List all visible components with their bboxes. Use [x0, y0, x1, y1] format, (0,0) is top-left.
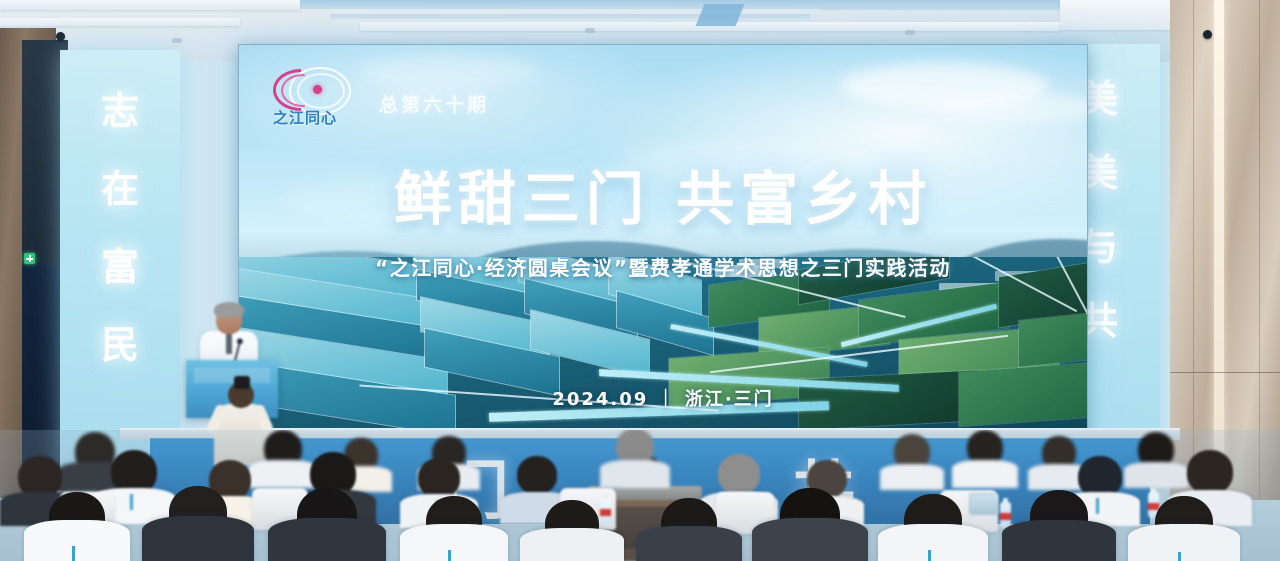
main-title: 鲜甜三门 共富乡村: [239, 169, 1087, 230]
logo-text: 之江同心: [273, 107, 337, 128]
audience-person: [142, 486, 254, 561]
exit-sign-icon: [24, 253, 35, 264]
audience-person: [636, 498, 742, 561]
left-banner-char: 富: [101, 248, 139, 286]
left-banner-char: 在: [101, 170, 139, 208]
audience-person: [752, 488, 868, 561]
ceiling-camera-icon: [1203, 30, 1212, 39]
audience-person: [600, 430, 670, 488]
audience-person: [952, 430, 1018, 488]
conference-hall-photo: 志 在 富 民 美 美 与 共: [0, 0, 1280, 561]
left-banner-char: 民: [101, 326, 139, 364]
right-wall: [1170, 0, 1280, 500]
left-banner-char: 志: [101, 92, 139, 130]
subtitle: “之江同心·经济圆桌会议”暨费孝通学术思想之三门实践活动: [239, 252, 1087, 281]
audience-person: [24, 492, 130, 561]
audience-person: [880, 434, 944, 490]
seated-audience: [0, 430, 1280, 561]
camera-icon: [234, 376, 250, 389]
ceiling-vent-icon: [585, 28, 595, 33]
dateline: 2024.09 ｜ 浙江·三门: [239, 385, 1087, 411]
ceiling-vent-icon: [905, 30, 915, 35]
audience-person: [268, 488, 386, 561]
audience-person: [520, 500, 624, 561]
audience-person: [1128, 496, 1240, 561]
left-led-banner: 志 在 富 民: [60, 50, 180, 470]
screen-title-block: 鲜甜三门 共富乡村 “之江同心·经济圆桌会议”暨费孝通学术思想之三门实践活动: [239, 169, 1087, 281]
audience-person: [1002, 490, 1116, 561]
ceiling-camera-icon: [56, 32, 65, 41]
ripple-logo-icon: 之江同心: [271, 67, 353, 123]
right-wall-light-strip: [1214, 0, 1224, 500]
issue-label: 总第六十期: [379, 90, 489, 117]
ceiling-vent-icon: [172, 38, 182, 43]
main-led-screen: 之江同心 总第六十期 鲜甜三门 共富乡村 “之江同心·经济圆桌会议”暨费孝通学术…: [238, 44, 1088, 438]
audience-person: [878, 494, 988, 561]
event-logo: 之江同心 总第六十期: [271, 67, 489, 123]
audience-person: [400, 496, 508, 561]
